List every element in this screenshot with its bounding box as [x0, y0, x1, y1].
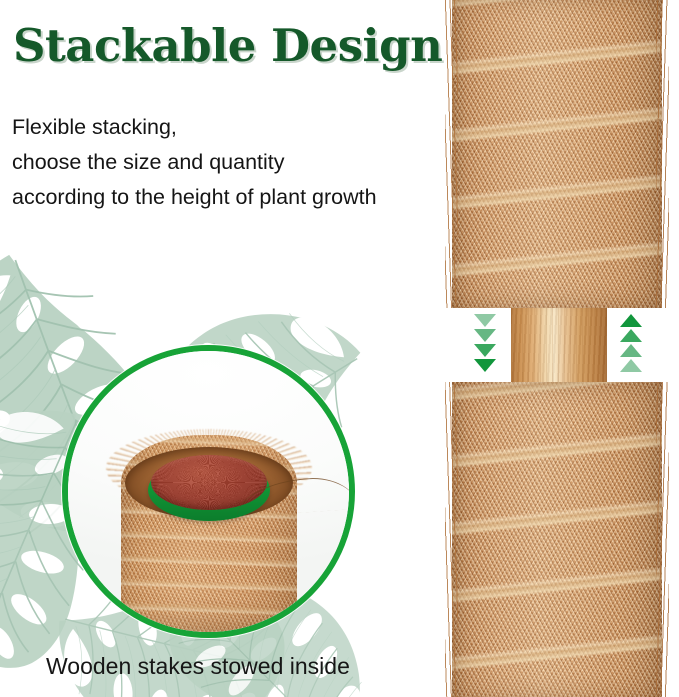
- chevron-down-icon: [474, 314, 496, 327]
- chevron-down-icon: [474, 359, 496, 372]
- wooden-stake: [511, 300, 607, 392]
- stack-upward-arrows: [620, 314, 642, 372]
- caption-text: Wooden stakes stowed inside: [46, 655, 350, 678]
- moss-pole-upper-segment: [452, 0, 662, 308]
- detail-closeup-circle: [62, 345, 355, 638]
- chevron-up-icon: [620, 344, 642, 357]
- stack-downward-arrows: [474, 314, 496, 372]
- chevron-down-icon: [474, 344, 496, 357]
- product-feature-image: Stackable Design Flexible stacking, choo…: [0, 0, 679, 697]
- subtitle-line-1: Flexible stacking,: [12, 110, 377, 145]
- chevron-up-icon: [620, 329, 642, 342]
- subtitle-block: Flexible stacking, choose the size and q…: [12, 110, 377, 215]
- chevron-down-icon: [474, 329, 496, 342]
- closeup-photo: [68, 351, 349, 632]
- moss-pole-lower-segment: [452, 382, 662, 697]
- subtitle-line-2: choose the size and quantity: [12, 145, 377, 180]
- chevron-up-icon: [620, 314, 642, 327]
- cap-red-top: [151, 455, 267, 510]
- subtitle-line-3: according to the height of plant growth: [12, 180, 377, 215]
- chevron-up-icon: [620, 359, 642, 372]
- page-title: Stackable Design: [13, 22, 442, 69]
